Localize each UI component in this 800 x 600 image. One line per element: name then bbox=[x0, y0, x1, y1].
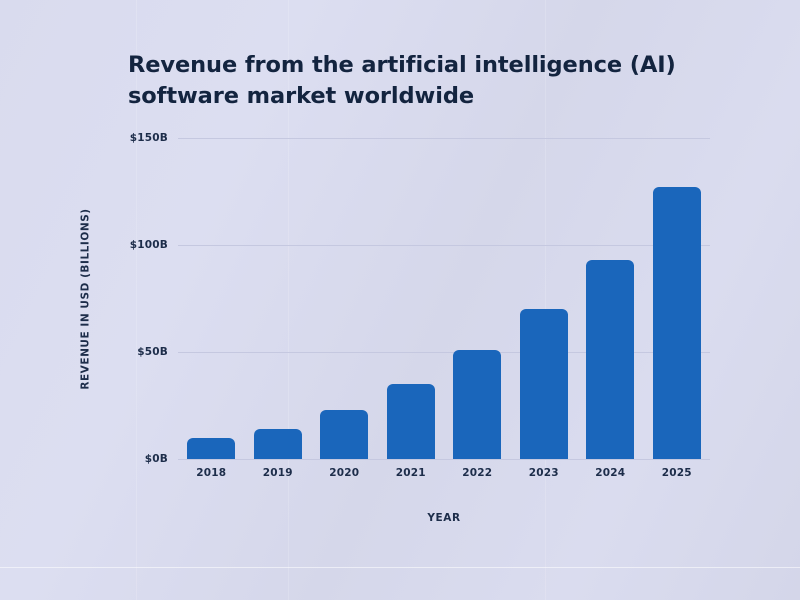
x-axis-tick-label-2019: 2019 bbox=[263, 467, 293, 479]
x-axis-title-text: YEAR bbox=[427, 512, 460, 524]
gridline-0-baseline: $0B bbox=[178, 459, 710, 460]
bar-2019[interactable] bbox=[254, 429, 302, 459]
chart-title-line-2: software market worldwide bbox=[128, 81, 728, 112]
y-axis-tick-label-50: $50B bbox=[137, 346, 168, 358]
bar-2018[interactable] bbox=[187, 438, 235, 459]
bar-slot-2022: 2022 bbox=[444, 138, 511, 459]
y-axis-tick-label-0: $0B bbox=[145, 453, 168, 465]
x-axis-tick-label-2025: 2025 bbox=[662, 467, 692, 479]
y-axis-title-text: REVENUE IN USD (BILLIONS) bbox=[80, 208, 92, 389]
footer-divider bbox=[0, 567, 800, 568]
y-axis-title: REVENUE IN USD (BILLIONS) bbox=[78, 138, 94, 459]
bar-2024[interactable] bbox=[586, 260, 634, 459]
bar-2025[interactable] bbox=[653, 187, 701, 459]
y-axis-tick-label-150: $150B bbox=[130, 132, 168, 144]
bar-2020[interactable] bbox=[320, 410, 368, 459]
bar-2022[interactable] bbox=[453, 350, 501, 459]
plot-area: $150B $100B $50B $0B 2018 2019 2020 bbox=[178, 138, 710, 459]
x-axis-tick-label-2021: 2021 bbox=[396, 467, 426, 479]
chart-title: Revenue from the artificial intelligence… bbox=[128, 50, 728, 112]
chart-title-line-1: Revenue from the artificial intelligence… bbox=[128, 52, 676, 78]
bar-slot-2019: 2019 bbox=[245, 138, 312, 459]
bar-series: 2018 2019 2020 2021 2022 2023 bbox=[178, 138, 710, 459]
bar-2023[interactable] bbox=[520, 309, 568, 459]
chart-page: Revenue from the artificial intelligence… bbox=[0, 0, 800, 600]
x-axis-tick-label-2022: 2022 bbox=[462, 467, 492, 479]
bar-slot-2024: 2024 bbox=[577, 138, 644, 459]
x-axis-tick-label-2018: 2018 bbox=[196, 467, 226, 479]
y-axis-tick-label-100: $100B bbox=[130, 239, 168, 251]
bar-slot-2021: 2021 bbox=[378, 138, 445, 459]
x-axis-title: YEAR bbox=[178, 512, 710, 524]
bar-2021[interactable] bbox=[387, 384, 435, 459]
bar-slot-2025: 2025 bbox=[644, 138, 711, 459]
bar-slot-2023: 2023 bbox=[511, 138, 578, 459]
x-axis-tick-label-2023: 2023 bbox=[529, 467, 559, 479]
x-axis-tick-label-2024: 2024 bbox=[595, 467, 625, 479]
bar-slot-2018: 2018 bbox=[178, 138, 245, 459]
x-axis-tick-label-2020: 2020 bbox=[329, 467, 359, 479]
bar-slot-2020: 2020 bbox=[311, 138, 378, 459]
